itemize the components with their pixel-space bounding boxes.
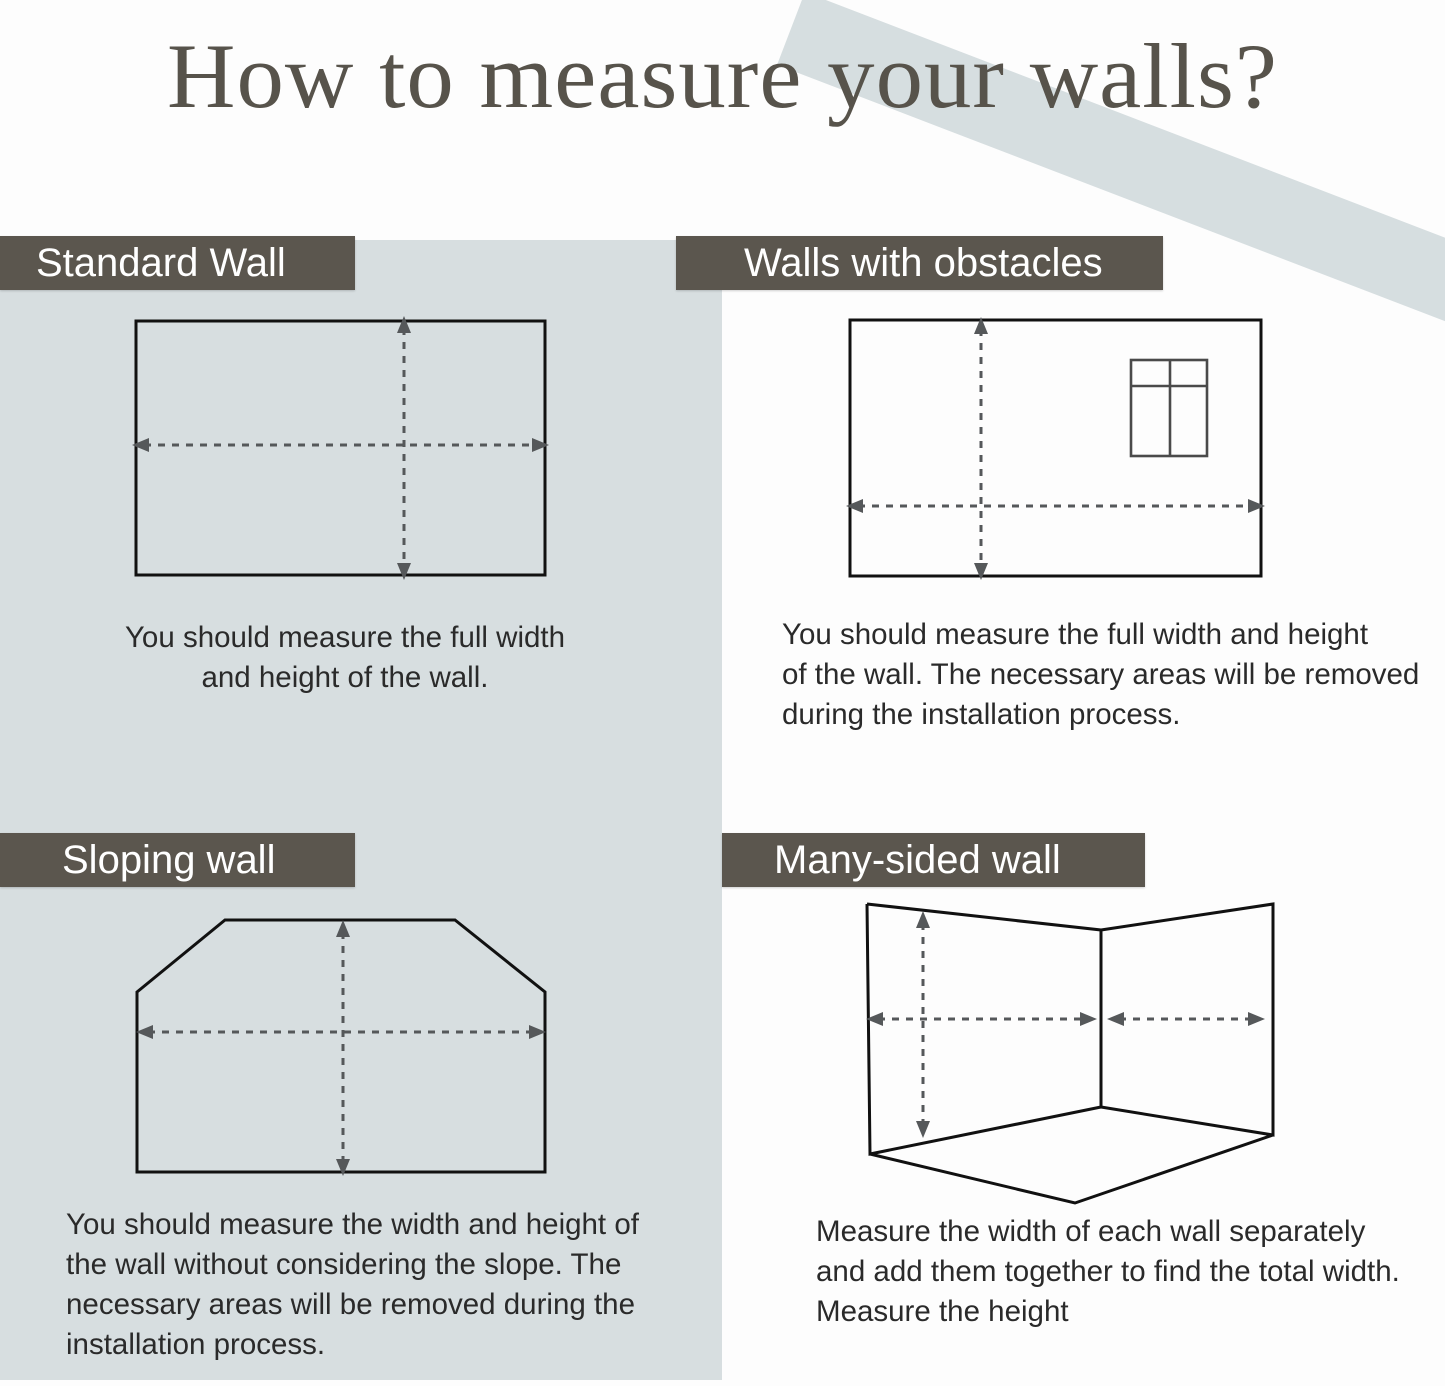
width-dimension-arrow-left [866,1012,1097,1026]
section-header-standard-wall: Standard Wall [0,236,355,290]
wall-outline [137,920,545,1172]
diagram-standard-wall [120,300,570,600]
caption-standard-wall: You should measure the full width and he… [60,618,630,698]
wall-outline [136,321,545,575]
caption-walls-with-obstacles: You should measure the full width and he… [782,615,1422,735]
width-dimension-arrow-right [1107,1012,1265,1026]
height-dimension-arrow [916,911,930,1138]
window-icon [1131,360,1207,456]
diagram-walls-with-obstacles [836,305,1281,595]
width-dimension-arrow [132,438,549,452]
wall-outline [850,320,1261,576]
section-header-sloping-wall: Sloping wall [0,833,355,887]
diagram-many-sided-wall [845,895,1295,1210]
width-dimension-arrow [136,1025,546,1039]
caption-sloping-wall: You should measure the width and height … [66,1205,666,1365]
caption-many-sided-wall: Measure the width of each wall separatel… [816,1212,1436,1332]
section-header-walls-with-obstacles: Walls with obstacles [676,236,1163,290]
floor-outline [870,1135,1273,1203]
diagram-sloping-wall [120,900,570,1195]
height-dimension-arrow [397,316,411,580]
width-dimension-arrow [846,499,1265,513]
page-title: How to measure your walls? [0,28,1445,125]
height-dimension-arrow [974,317,988,580]
height-dimension-arrow [336,920,350,1176]
left-wall-outline [867,904,1101,1154]
section-header-many-sided-wall: Many-sided wall [722,833,1145,887]
